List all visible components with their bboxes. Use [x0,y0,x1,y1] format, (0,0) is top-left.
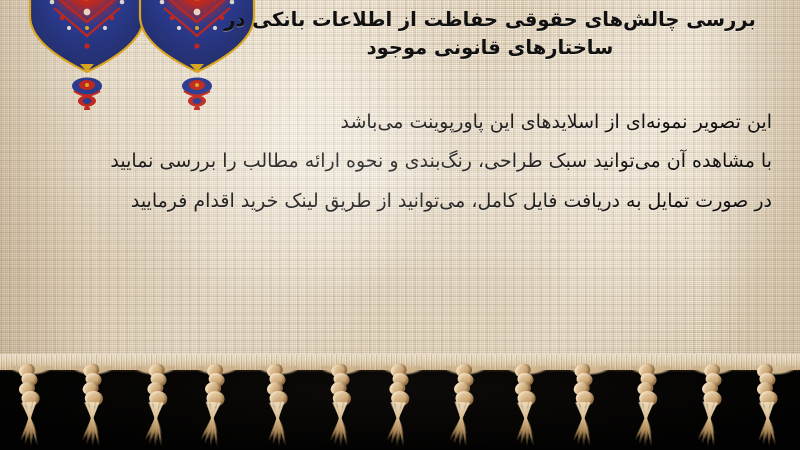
slide-title-line-1: بررسی چالش‌های حقوقی حفاظت از اطلاعات با… [224,8,756,31]
fringe-tassel [748,363,787,450]
tassel-skirt [569,402,598,449]
fringe-tassel [74,364,110,450]
tassel-knot-column [515,364,533,407]
fringe-tassel [506,363,545,450]
fringe-tassel [380,364,416,450]
tassel-skirt [753,401,784,449]
fringe-tassel [442,363,481,450]
body-line-3: در صورت تمایل به دریافت فایل کامل، می‌تو… [24,191,772,212]
tassel-skirt [511,401,542,449]
tassel-knot-column [574,364,591,406]
fringe-tassel [690,363,729,450]
tassel-knot-column [638,364,655,406]
fringe-tassel [194,363,233,450]
tassel-knot-column [390,364,407,406]
tassel-knot-column [18,364,36,407]
tassel-knot-column [266,364,284,407]
tassel-skirt [631,402,660,449]
tassel-skirt [141,402,170,449]
tassel-skirt [693,401,724,449]
carpet-tassel-fringe [0,354,800,450]
body-line-2: با مشاهده آن می‌توانید سبک طراحی، رنگ‌بن… [24,151,772,172]
body-line-1: این تصویر نمونه‌ای از اسلایدهای این پاور… [24,112,772,133]
tassel-knot-column [148,364,165,406]
tassel-knot-column [702,364,720,407]
tassel-knot-column [332,364,349,406]
fringe-tassel [138,364,174,450]
fringe-tassel [628,364,664,450]
presentation-slide: بررسی چالش‌های حقوقی حفاظت از اطلاعات با… [0,0,800,450]
fringe-tassel [257,363,296,450]
tassel-skirt [78,402,107,449]
tassel-skirt [383,402,412,449]
tassel-knot-column [205,364,223,407]
slide-body: این تصویر نمونه‌ای از اسلایدهای این پاور… [24,112,772,230]
slide-title: بررسی چالش‌های حقوقی حفاظت از اطلاعات با… [210,6,770,63]
fringe-tassel [9,363,48,450]
fringe-tassel [565,364,601,450]
tassel-skirt [263,401,294,449]
persian-pendant-medallion-icon [28,0,146,114]
tassel-knot-column [757,364,775,407]
tassel-skirt [445,401,476,449]
tassel-skirt [15,401,46,449]
tassel-knot-column [83,364,100,406]
fringe-tassel [323,364,359,450]
slide-title-line-2: ساختارهای قانونی موجود [210,34,770,62]
tassel-knot-column [454,364,472,407]
tassel-skirt [197,401,228,449]
tassel-skirt [326,402,355,449]
